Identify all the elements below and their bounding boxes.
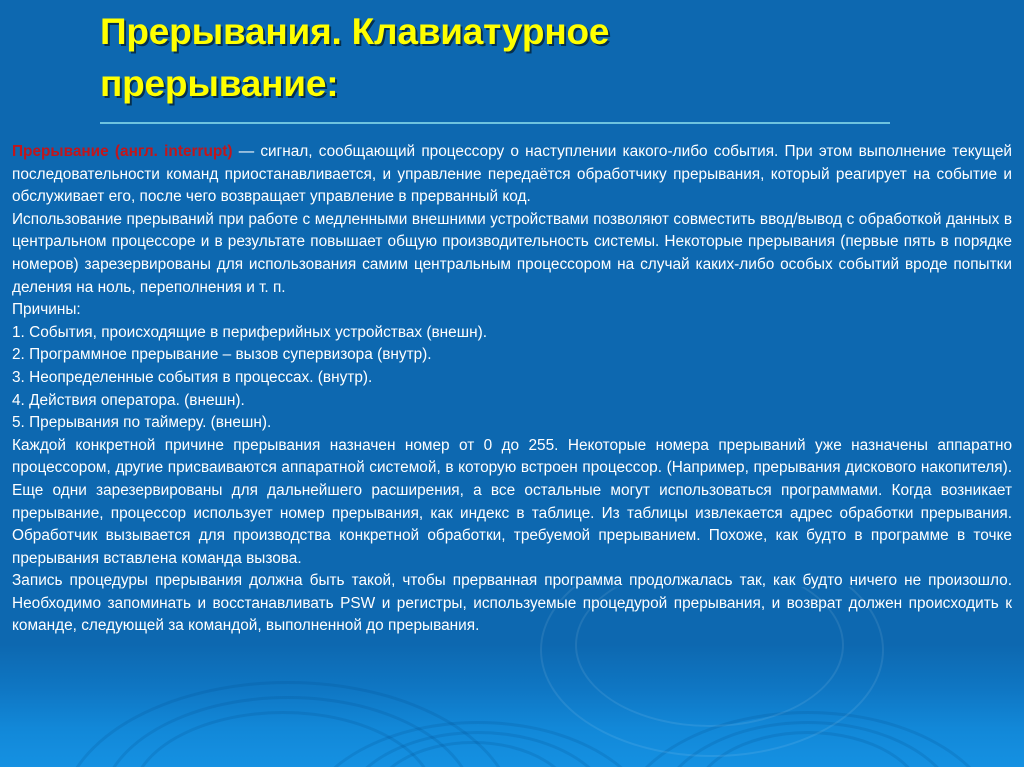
presentation-slide: Прерывания. Клавиатурное прерывание: Пре… [0,0,1024,767]
paragraph-usage: Использование прерываний при работе с ме… [12,209,1012,299]
list-item: 3. Неопределенные события в процессах. (… [12,367,1012,390]
paragraph-numbers: Каждой конкретной причине прерывания наз… [12,435,1012,571]
paragraph-definition: Прерывание (англ. interrupt) — сигнал, с… [12,141,1012,209]
list-item: 1. События, происходящие в периферийных … [12,322,1012,345]
slide-body: Прерывание (англ. interrupt) — сигнал, с… [12,141,1012,638]
title-underline-rule [100,122,890,124]
list-item: 2. Программное прерывание – вызов суперв… [12,344,1012,367]
lead-term: Прерывание (англ. interrupt) [12,143,233,160]
list-item: 4. Действия оператора. (внешн). [12,390,1012,413]
causes-heading: Причины: [12,299,1012,322]
page-title: Прерывания. Клавиатурное прерывание: [100,6,900,110]
title-block: Прерывания. Клавиатурное прерывание: [100,6,900,110]
list-item: 5. Прерывания по таймеру. (внешн). [12,412,1012,435]
paragraph-procedure: Запись процедуры прерывания должна быть … [12,570,1012,638]
